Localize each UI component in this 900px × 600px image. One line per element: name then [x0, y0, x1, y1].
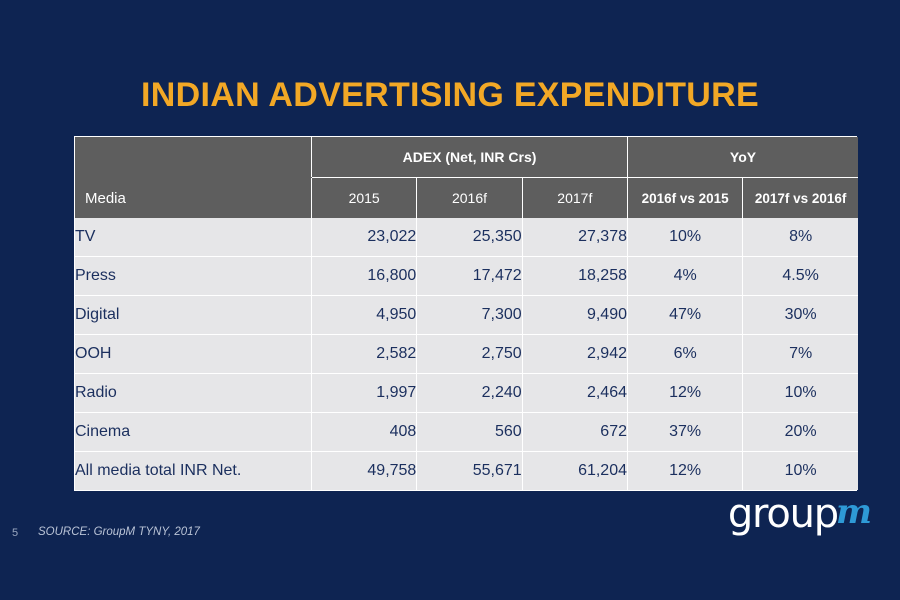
source-note: SOURCE: GroupM TYNY, 2017	[38, 526, 200, 538]
group-header-blank	[75, 137, 312, 178]
column-header-media[interactable]: Media	[75, 178, 312, 219]
cell-media: Digital	[75, 296, 312, 335]
cell-yoy-2016f-vs-2015: 12%	[628, 452, 743, 491]
cell-2015: 49,758	[312, 452, 417, 491]
cell-media: All media total INR Net.	[75, 452, 312, 491]
cell-yoy-2016f-vs-2015: 37%	[628, 413, 743, 452]
cell-yoy-2016f-vs-2015: 6%	[628, 335, 743, 374]
cell-media: Radio	[75, 374, 312, 413]
groupm-logo: group m	[728, 494, 872, 534]
cell-2016f: 55,671	[417, 452, 522, 491]
slide: INDIAN ADVERTISING EXPENDITURE ADEX (Net…	[0, 0, 900, 600]
cell-2015: 408	[312, 413, 417, 452]
cell-yoy-2016f-vs-2015: 4%	[628, 257, 743, 296]
column-header-2017f[interactable]: 2017f	[522, 178, 627, 219]
cell-yoy-2017f-vs-2016f: 7%	[743, 335, 858, 374]
cell-yoy-2016f-vs-2015: 10%	[628, 218, 743, 257]
cell-yoy-2016f-vs-2015: 47%	[628, 296, 743, 335]
cell-yoy-2017f-vs-2016f: 20%	[743, 413, 858, 452]
cell-2016f: 7,300	[417, 296, 522, 335]
column-header-yoy-2017f-vs-2016f[interactable]: 2017f vs 2016f	[743, 178, 858, 219]
table-column-header-row: Media 2015 2016f 2017f 2016f vs 2015 201…	[75, 178, 858, 219]
adex-table: ADEX (Net, INR Crs) YoY Media 2015 2016f…	[75, 137, 858, 490]
cell-yoy-2017f-vs-2016f: 4.5%	[743, 257, 858, 296]
cell-media: Press	[75, 257, 312, 296]
cell-2017f: 672	[522, 413, 627, 452]
cell-2016f: 2,240	[417, 374, 522, 413]
cell-yoy-2016f-vs-2015: 12%	[628, 374, 743, 413]
page-title: INDIAN ADVERTISING EXPENDITURE	[0, 76, 900, 115]
cell-2017f: 2,464	[522, 374, 627, 413]
table-row[interactable]: TV 23,022 25,350 27,378 10% 8%	[75, 218, 858, 257]
cell-2015: 23,022	[312, 218, 417, 257]
table-body: TV 23,022 25,350 27,378 10% 8% Press 16,…	[75, 218, 858, 490]
cell-2015: 16,800	[312, 257, 417, 296]
cell-2015: 2,582	[312, 335, 417, 374]
table-row[interactable]: Cinema 408 560 672 37% 20%	[75, 413, 858, 452]
table-row[interactable]: Digital 4,950 7,300 9,490 47% 30%	[75, 296, 858, 335]
cell-2016f: 560	[417, 413, 522, 452]
cell-yoy-2017f-vs-2016f: 10%	[743, 452, 858, 491]
cell-2017f: 2,942	[522, 335, 627, 374]
cell-media: Cinema	[75, 413, 312, 452]
cell-2016f: 25,350	[417, 218, 522, 257]
cell-yoy-2017f-vs-2016f: 30%	[743, 296, 858, 335]
cell-media: TV	[75, 218, 312, 257]
cell-yoy-2017f-vs-2016f: 10%	[743, 374, 858, 413]
cell-2017f: 18,258	[522, 257, 627, 296]
cell-2015: 4,950	[312, 296, 417, 335]
group-header-yoy: YoY	[628, 137, 859, 178]
slide-number: 5	[12, 527, 18, 539]
adex-table-container: ADEX (Net, INR Crs) YoY Media 2015 2016f…	[74, 136, 857, 491]
cell-media: OOH	[75, 335, 312, 374]
group-header-adex: ADEX (Net, INR Crs)	[312, 137, 628, 178]
logo-wordmark: group	[728, 494, 838, 534]
cell-2016f: 2,750	[417, 335, 522, 374]
cell-2017f: 9,490	[522, 296, 627, 335]
column-header-2015[interactable]: 2015	[312, 178, 417, 219]
table-row[interactable]: Press 16,800 17,472 18,258 4% 4.5%	[75, 257, 858, 296]
table-row[interactable]: OOH 2,582 2,750 2,942 6% 7%	[75, 335, 858, 374]
cell-2017f: 61,204	[522, 452, 627, 491]
logo-m-icon: m	[836, 495, 872, 529]
table-row-total[interactable]: All media total INR Net. 49,758 55,671 6…	[75, 452, 858, 491]
table-group-header-row: ADEX (Net, INR Crs) YoY	[75, 137, 858, 178]
column-header-2016f[interactable]: 2016f	[417, 178, 522, 219]
cell-2016f: 17,472	[417, 257, 522, 296]
cell-yoy-2017f-vs-2016f: 8%	[743, 218, 858, 257]
table-header: ADEX (Net, INR Crs) YoY Media 2015 2016f…	[75, 137, 858, 218]
column-header-yoy-2016f-vs-2015[interactable]: 2016f vs 2015	[628, 178, 743, 219]
table-row[interactable]: Radio 1,997 2,240 2,464 12% 10%	[75, 374, 858, 413]
cell-2017f: 27,378	[522, 218, 627, 257]
cell-2015: 1,997	[312, 374, 417, 413]
